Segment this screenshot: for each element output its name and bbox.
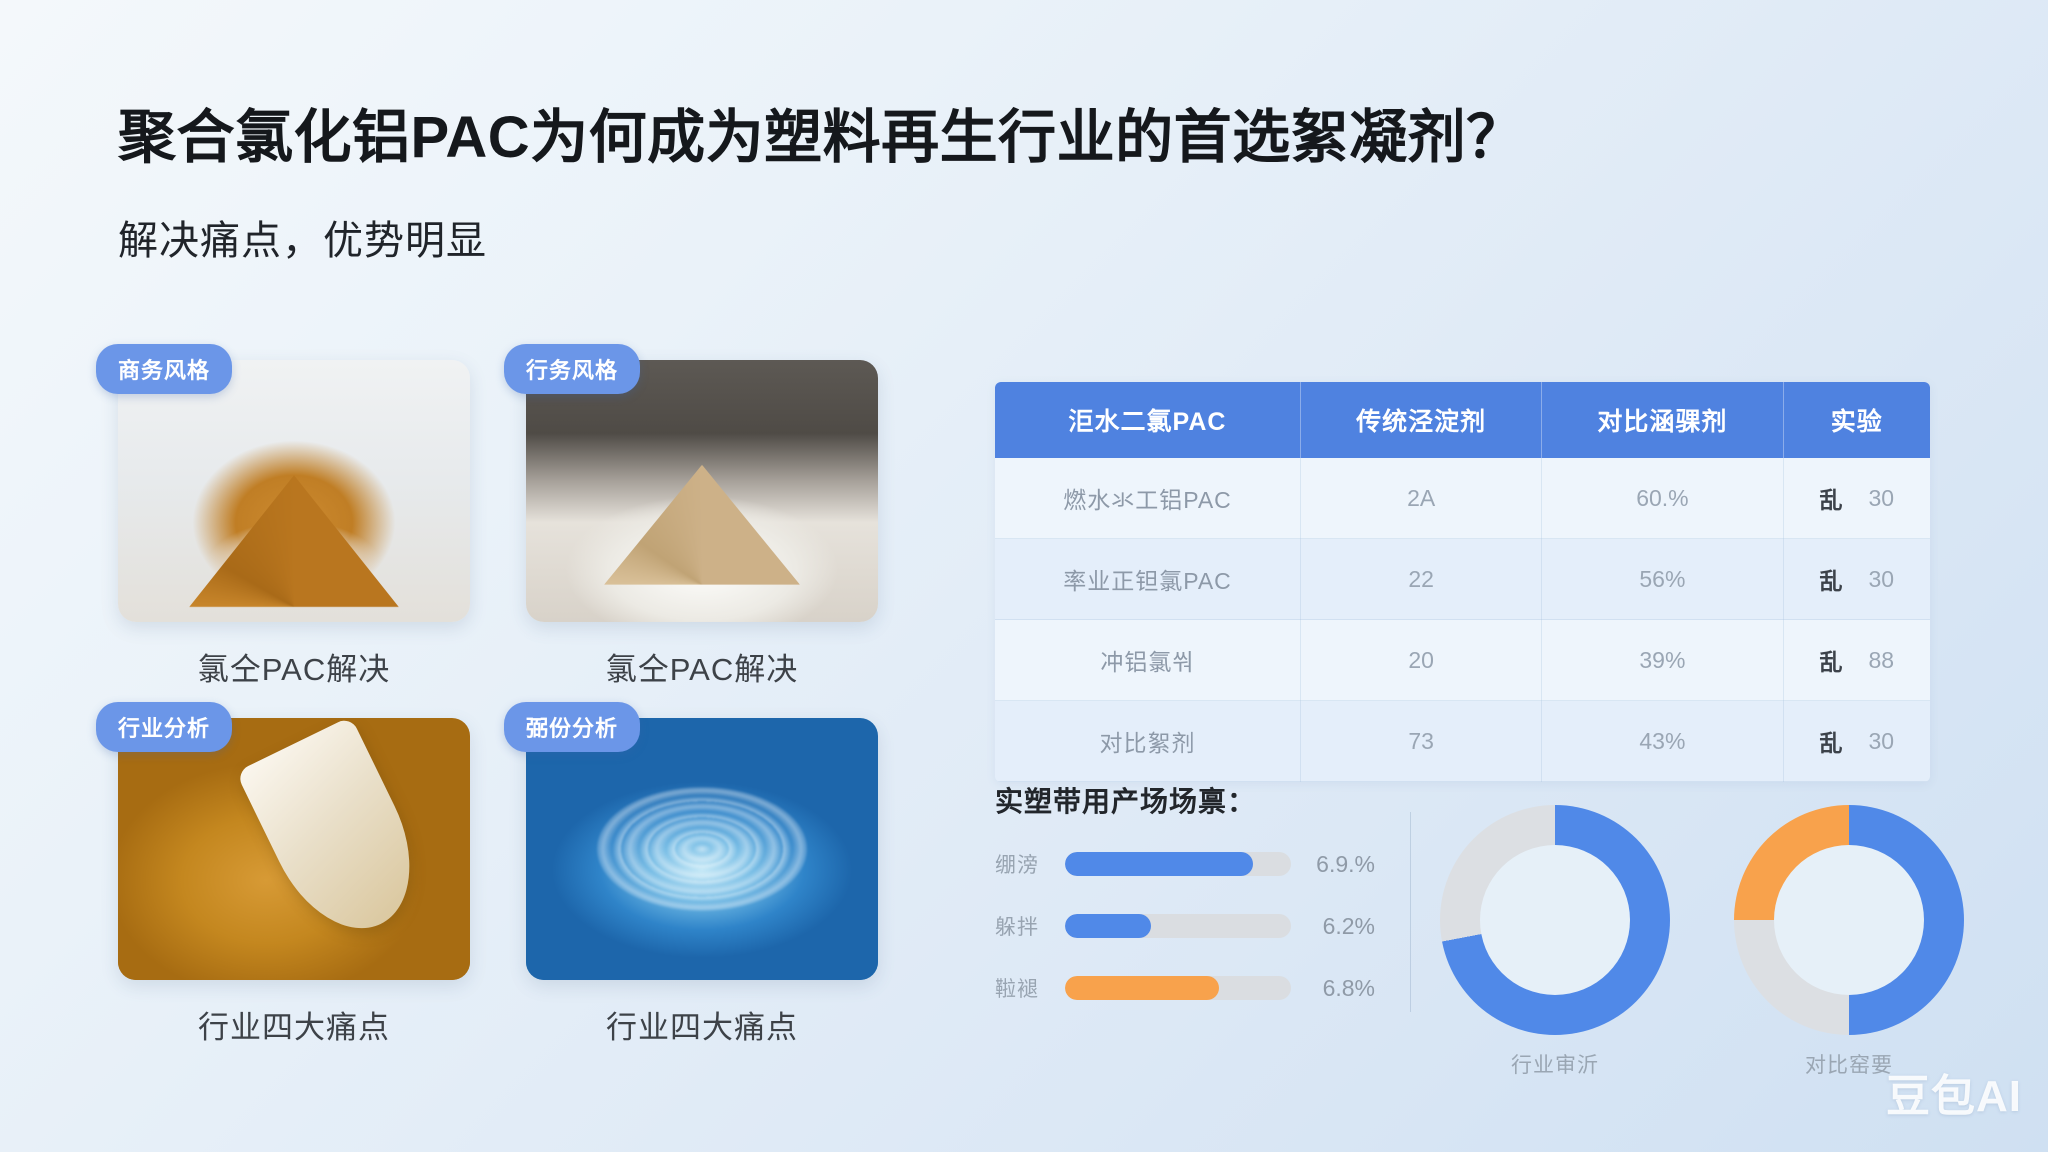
bar-value: 6.8% [1291, 975, 1375, 1002]
table-cell-dose: 2A [1301, 458, 1542, 539]
table-body: 燃水氺工铝PAC 2A 60.% 乱 30 率业正钽氯PAC 22 56% [995, 458, 1930, 782]
table-cell-rate: 39% [1542, 620, 1783, 701]
table-header-cell[interactable]: 实验 [1783, 382, 1930, 458]
comparison-table: 洰水二氯PAC 传统泾淀剂 对比涵骒剂 实验 燃水氺工铝PAC 2A 60.% … [995, 382, 1930, 782]
gallery-card[interactable]: 商务风格 氯仝PAC解决 [118, 360, 470, 689]
donut-chart-group: 行业审沂 对比窑要 [1440, 805, 1964, 1079]
table-cell-exp: 乱 30 [1783, 458, 1930, 539]
page-subtitle: 解决痛点，优势明显 [118, 208, 487, 266]
bar-label: 绷滂 [995, 849, 1065, 879]
bar-track [1065, 852, 1291, 876]
table-cell-dose: 73 [1301, 701, 1542, 782]
bar-row: 绷滂 6.9.% [995, 840, 1375, 888]
table-cell-rate: 56% [1542, 539, 1783, 620]
bar-value: 6.9.% [1291, 851, 1375, 878]
bar-track [1065, 976, 1291, 1000]
card-caption: 行业四大痛点 [118, 1002, 470, 1047]
table-cell-exp: 乱 30 [1783, 701, 1930, 782]
table-header-cell[interactable]: 洰水二氯PAC [995, 382, 1301, 458]
table-cell-exp: 乱 30 [1783, 539, 1930, 620]
table-cell-name: 燃水氺工铝PAC [995, 458, 1301, 539]
photo-orange-powder-cone [118, 360, 470, 622]
table-cell-exp-value: 30 [1868, 566, 1894, 593]
gallery-card[interactable]: 行业分析 行业四大痛点 [118, 718, 470, 1047]
card-badge: 弼份分析 [504, 702, 640, 752]
table-cell-exp-value: 30 [1868, 728, 1894, 755]
table-row: 对比絮剂 73 43% 乱 30 [995, 701, 1930, 782]
bar-fill [1065, 976, 1219, 1000]
card-badge: 商务风格 [96, 344, 232, 394]
bar-value: 6.2% [1291, 913, 1375, 940]
gallery-card[interactable]: 弼份分析 行业四大痛点 [526, 718, 878, 1047]
card-caption: 氯仝PAC解决 [118, 644, 470, 689]
donut-chart: 行业审沂 [1440, 805, 1670, 1079]
card-caption: 行业四大痛点 [526, 1002, 878, 1047]
photo-blue-water-ripple [526, 718, 878, 980]
table-cell-name: 率业正钽氯PAC [995, 539, 1301, 620]
donut-chart: 对比窑要 [1734, 805, 1964, 1079]
bar-label: 鞡褪 [995, 973, 1065, 1003]
bar-label: 躲拌 [995, 911, 1065, 941]
table-cell-exp-key: 乱 [1819, 643, 1842, 677]
table-cell-name: 冲铝氯쒀 [995, 620, 1301, 701]
table-cell-name: 对比絮剂 [995, 701, 1301, 782]
table-cell-exp-key: 乱 [1819, 562, 1842, 596]
page-title: 聚合氯化铝PAC为何成为塑料再生行业的首选絮凝剂？ [118, 90, 1525, 174]
slide-canvas: 聚合氯化铝PAC为何成为塑料再生行业的首选絮凝剂？ 解决痛点，优势明显 商务风格… [0, 0, 2048, 1152]
card-caption: 氯仝PAC解决 [526, 644, 878, 689]
bar-row: 躲拌 6.2% [995, 902, 1375, 950]
donut-ring [1734, 805, 1964, 1035]
table-cell-rate: 60.% [1542, 458, 1783, 539]
bar-fill [1065, 914, 1151, 938]
photo-beige-powder-bowl [526, 360, 878, 622]
photo-golden-powder-scoop [118, 718, 470, 980]
donut-ring [1440, 805, 1670, 1035]
table-row: 冲铝氯쒀 20 39% 乱 88 [995, 620, 1930, 701]
card-thumbnail[interactable] [118, 360, 470, 622]
table-cell-rate: 43% [1542, 701, 1783, 782]
table-head: 洰水二氯PAC 传统泾淀剂 对比涵骒剂 实验 [995, 382, 1930, 458]
table-row: 燃水氺工铝PAC 2A 60.% 乱 30 [995, 458, 1930, 539]
card-thumbnail[interactable] [118, 718, 470, 980]
table-header-cell[interactable]: 传统泾淀剂 [1301, 382, 1542, 458]
table-header-cell[interactable]: 对比涵骒剂 [1542, 382, 1783, 458]
vertical-divider [1410, 812, 1411, 1012]
table-cell-dose: 20 [1301, 620, 1542, 701]
usage-section-title: 实塑带用产场场禀： [995, 780, 1256, 820]
table-cell-exp-value: 88 [1868, 647, 1894, 674]
usage-bar-chart: 绷滂 6.9.% 躲拌 6.2% 鞡褪 6.8% [995, 840, 1375, 1026]
bar-row: 鞡褪 6.8% [995, 964, 1375, 1012]
card-thumbnail[interactable] [526, 360, 878, 622]
comparison-table-panel: 洰水二氯PAC 传统泾淀剂 对比涵骒剂 实验 燃水氺工铝PAC 2A 60.% … [995, 382, 1930, 782]
table-cell-exp-value: 30 [1868, 485, 1894, 512]
table-header-row: 洰水二氯PAC 传统泾淀剂 对比涵骒剂 实验 [995, 382, 1930, 458]
card-badge: 行业分析 [96, 702, 232, 752]
table-row: 率业正钽氯PAC 22 56% 乱 30 [995, 539, 1930, 620]
table-cell-dose: 22 [1301, 539, 1542, 620]
table-cell-exp-key: 乱 [1819, 481, 1842, 515]
bar-track [1065, 914, 1291, 938]
watermark-logo: 豆包AI [1886, 1060, 2022, 1124]
table-cell-exp: 乱 88 [1783, 620, 1930, 701]
card-thumbnail[interactable] [526, 718, 878, 980]
gallery-card[interactable]: 行务风格 氯仝PAC解决 [526, 360, 878, 689]
bar-fill [1065, 852, 1253, 876]
donut-label: 行业审沂 [1440, 1049, 1670, 1079]
card-badge: 行务风格 [504, 344, 640, 394]
table-cell-exp-key: 乱 [1819, 724, 1842, 758]
